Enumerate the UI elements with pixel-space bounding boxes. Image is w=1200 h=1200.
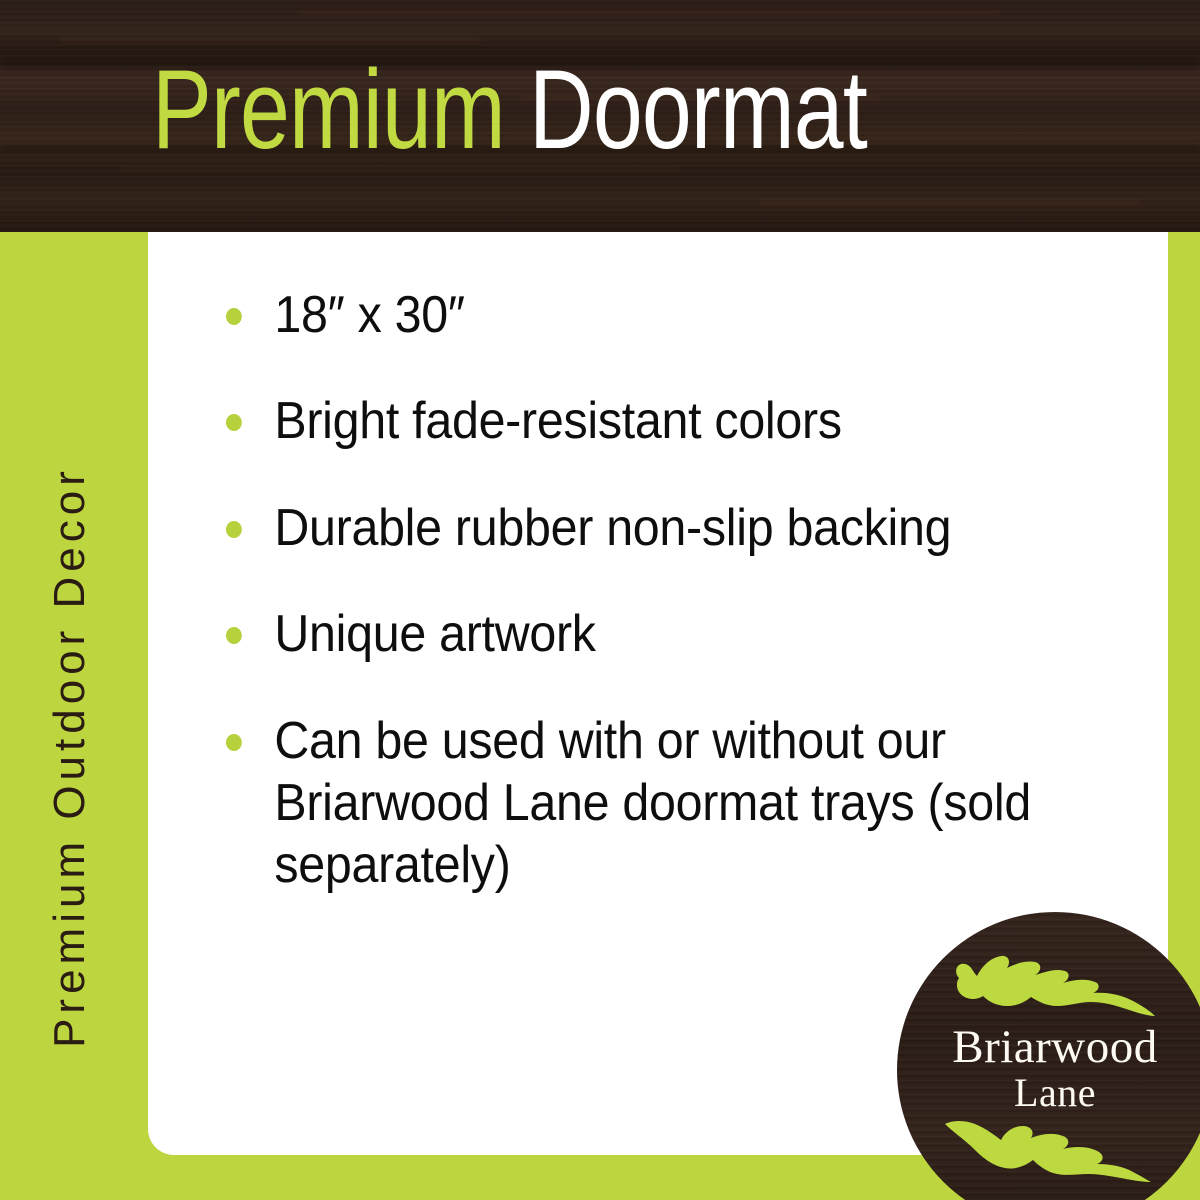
bullet-dot-icon — [226, 627, 242, 644]
wood-grain-streak — [760, 200, 1140, 203]
side-rail: Premium Outdoor Decor — [0, 232, 148, 1200]
brand-logo-badge: Briarwood Lane — [897, 912, 1200, 1200]
list-item-label: Bright fade-resistant colors — [274, 392, 841, 450]
bullet-dot-icon — [226, 521, 242, 538]
list-item: Durable rubber non-slip backing — [226, 497, 1063, 559]
feature-list: 18″ x 30″ Bright fade-resistant colors D… — [226, 284, 1126, 897]
page-title-accent: Premium — [152, 47, 505, 172]
page-title-main-word: Doormat — [529, 47, 867, 172]
brand-name-line2: Lane — [897, 1071, 1200, 1116]
brand-logo-inner: Briarwood Lane — [897, 912, 1200, 1200]
list-item: 18″ x 30″ — [226, 284, 1063, 346]
list-item-label: Durable rubber non-slip backing — [274, 499, 951, 557]
page-title-main — [505, 47, 529, 172]
brand-name-line1: Briarwood — [897, 1024, 1200, 1071]
oak-leaf-bottom-icon — [943, 1116, 1159, 1184]
list-item: Bright fade-resistant colors — [226, 390, 1063, 452]
list-item: Can be used with or without our Briarwoo… — [226, 710, 1063, 897]
wood-grain-streak — [300, 10, 1000, 15]
bullet-dot-icon — [226, 734, 242, 751]
list-item: Unique artwork — [226, 603, 1063, 665]
list-item-label: Unique artwork — [274, 605, 595, 663]
header-banner: Premium Doormat — [0, 0, 1200, 232]
wood-grain-streak — [60, 38, 480, 41]
list-item-label: Can be used with or without our Briarwoo… — [274, 712, 1031, 895]
oak-leaf-top-icon — [951, 954, 1157, 1018]
bullet-dot-icon — [226, 414, 242, 431]
bullet-dot-icon — [226, 308, 242, 325]
product-infographic: Premium Doormat Premium Outdoor Decor 18… — [0, 0, 1200, 1200]
brand-wordmark: Briarwood Lane — [897, 1024, 1200, 1116]
list-item-label: 18″ x 30″ — [274, 286, 464, 344]
side-rail-label: Premium Outdoor Decor — [45, 257, 95, 1200]
page-title: Premium Doormat — [152, 54, 867, 166]
